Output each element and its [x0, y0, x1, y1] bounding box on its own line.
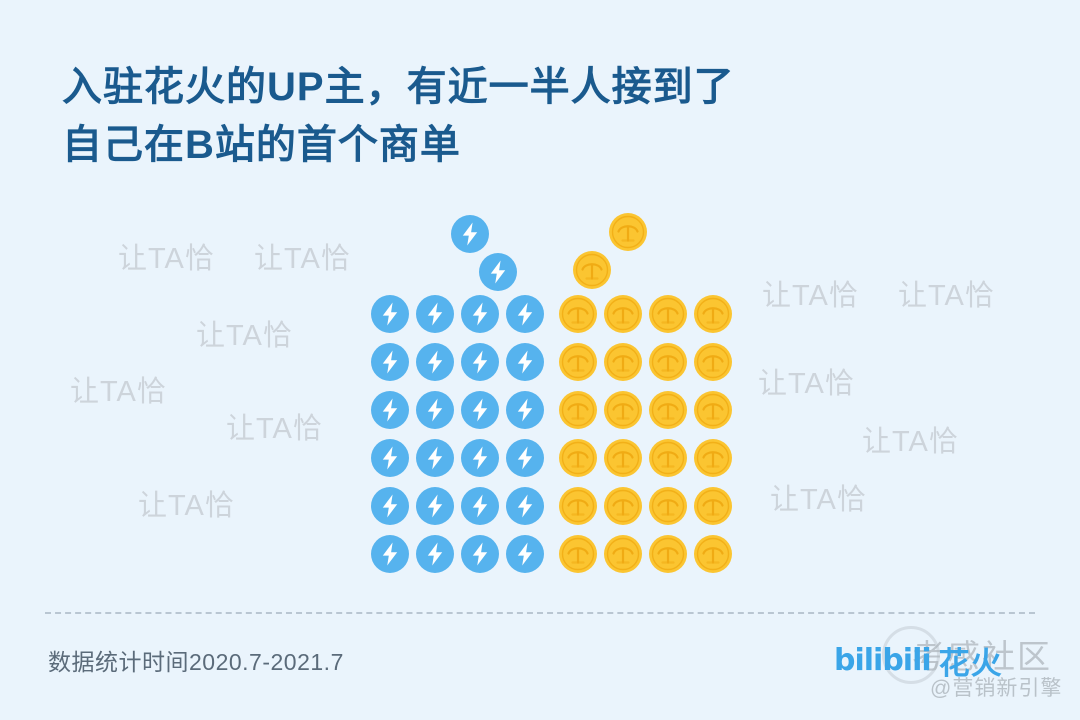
coin-icon [603, 534, 643, 574]
brand-logo-area: 考感社区 bilibili 花火 @营销新引擎 [826, 622, 1066, 708]
lightning-icon [415, 534, 455, 574]
lightning-icon [505, 390, 545, 430]
lightning-icon [460, 294, 500, 334]
coin-icon [648, 390, 688, 430]
pictogram-chart [360, 212, 720, 568]
coin-icon [648, 486, 688, 526]
coin-icon [693, 486, 733, 526]
watermark-text: 让TA恰 [138, 482, 235, 524]
lightning-icon [478, 252, 518, 292]
lightning-icon [415, 438, 455, 478]
coin-icon [603, 342, 643, 382]
coin-icon [693, 390, 733, 430]
slide-canvas: 入驻花火的UP主，有近一半人接到了 自己在B站的首个商单 让TA恰让TA恰让TA… [0, 0, 1080, 720]
coin-icon [608, 212, 648, 252]
lightning-icon [370, 534, 410, 574]
coin-icon [572, 250, 612, 290]
coin-icon [558, 294, 598, 334]
lightning-icon [415, 294, 455, 334]
coin-icon [648, 534, 688, 574]
footer-divider [45, 612, 1035, 614]
watermark-text: 让TA恰 [70, 368, 167, 410]
lightning-icon [415, 486, 455, 526]
coin-icon [558, 486, 598, 526]
lightning-icon [460, 486, 500, 526]
coin-icon [693, 294, 733, 334]
coin-icon [693, 342, 733, 382]
lightning-icon [460, 534, 500, 574]
lightning-icon [505, 294, 545, 334]
coin-icon [558, 534, 598, 574]
lightning-icon [370, 390, 410, 430]
coin-icon [648, 294, 688, 334]
lightning-icon [415, 390, 455, 430]
lightning-icon [505, 534, 545, 574]
lightning-icon [370, 486, 410, 526]
lightning-icon [460, 390, 500, 430]
watermark-text: 让TA恰 [898, 272, 995, 314]
watermark-text: 让TA恰 [762, 272, 859, 314]
coin-icon [693, 534, 733, 574]
lightning-icon [415, 342, 455, 382]
lightning-icon [460, 342, 500, 382]
lightning-icon [505, 486, 545, 526]
watermark-text: 让TA恰 [758, 360, 855, 402]
lightning-icon [505, 342, 545, 382]
lightning-icon [370, 438, 410, 478]
title-line-2: 自己在B站的首个商单 [62, 116, 942, 174]
coin-icon [558, 390, 598, 430]
bilibili-wordmark: bilibili [834, 643, 931, 678]
lightning-icon [460, 438, 500, 478]
lightning-icon [450, 214, 490, 254]
lightning-icon [370, 342, 410, 382]
coin-icon [603, 390, 643, 430]
coin-icon [648, 342, 688, 382]
data-period-note: 数据统计时间2020.7-2021.7 [48, 643, 344, 677]
watermark-text: 让TA恰 [196, 312, 293, 354]
coin-icon [603, 294, 643, 334]
title-line-1: 入驻花火的UP主，有近一半人接到了 [62, 58, 942, 116]
lightning-icon [505, 438, 545, 478]
coin-icon [603, 438, 643, 478]
watermark-text: 让TA恰 [770, 476, 867, 518]
coin-icon [603, 486, 643, 526]
watermark-handle-text: @营销新引擎 [930, 672, 1062, 702]
coin-icon [558, 342, 598, 382]
watermark-text: 让TA恰 [254, 235, 351, 277]
watermark-text: 让TA恰 [118, 235, 215, 277]
watermark-text: 让TA恰 [862, 418, 959, 460]
page-title: 入驻花火的UP主，有近一半人接到了 自己在B站的首个商单 [62, 58, 942, 174]
lightning-icon [370, 294, 410, 334]
coin-icon [648, 438, 688, 478]
coin-icon [693, 438, 733, 478]
coin-icon [558, 438, 598, 478]
watermark-text: 让TA恰 [226, 405, 323, 447]
